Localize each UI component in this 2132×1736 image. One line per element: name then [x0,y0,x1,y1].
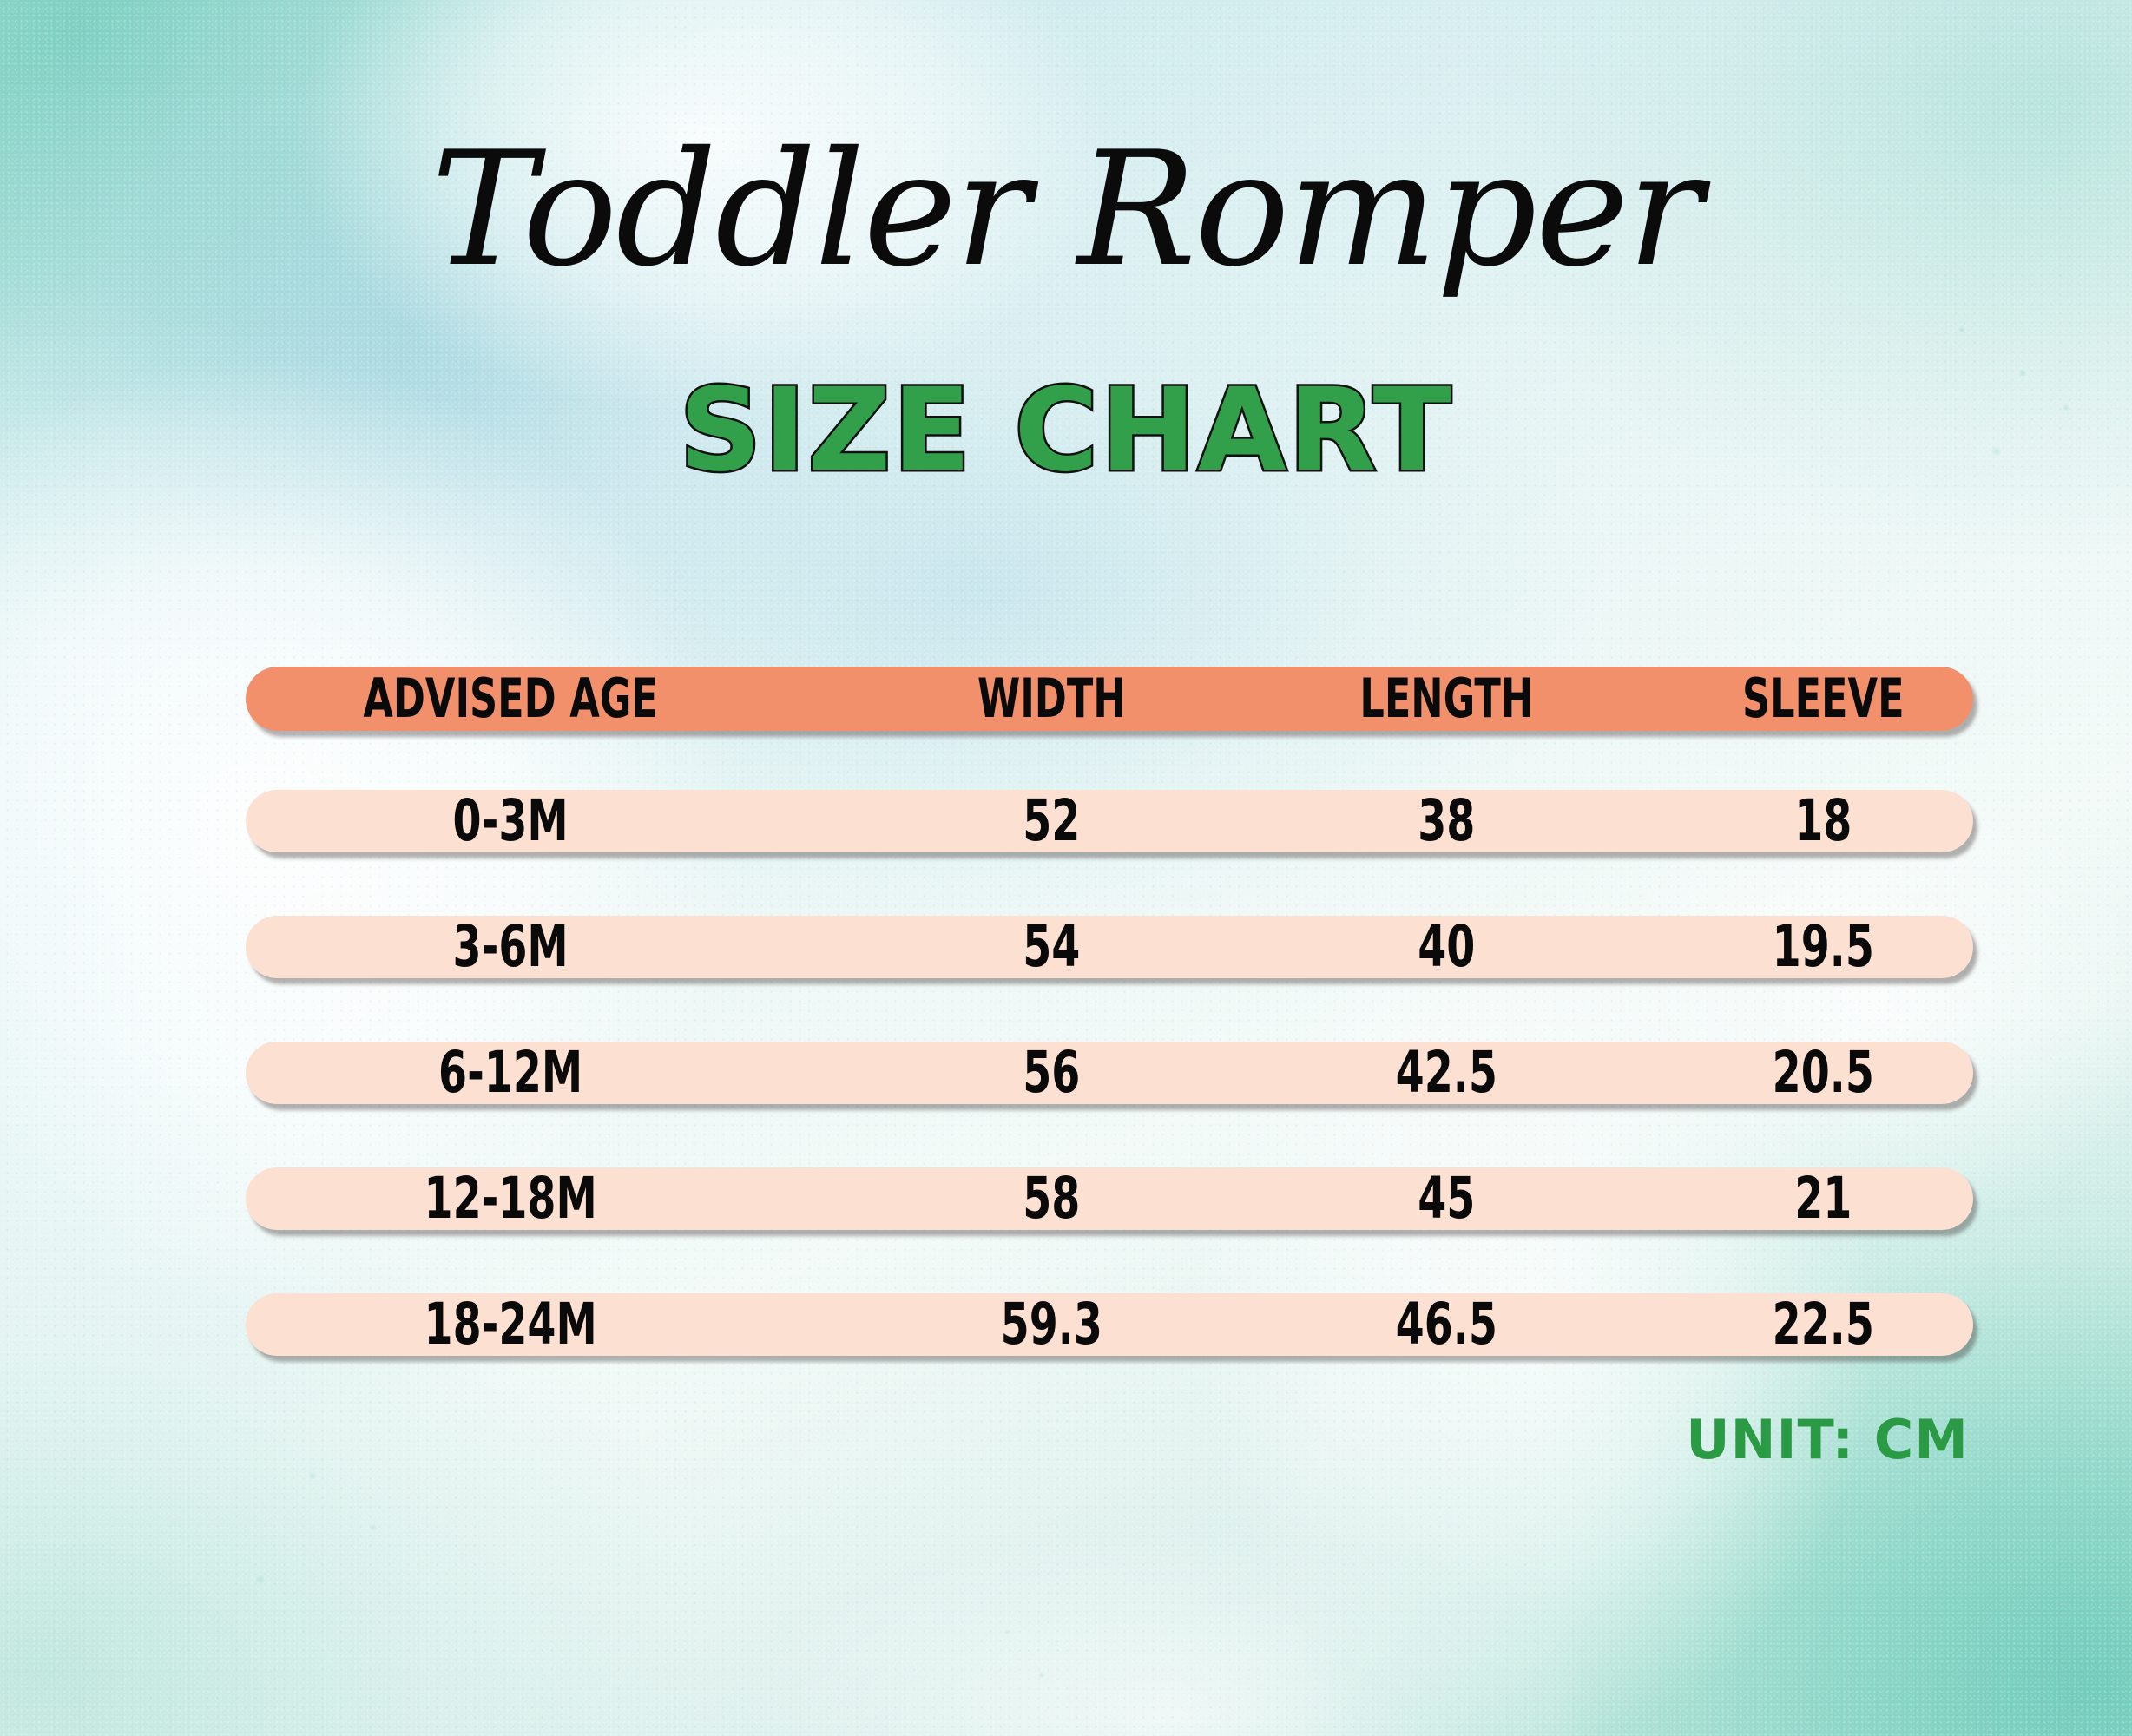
unit-label: UNIT: CM [1686,1413,1969,1467]
cell-sleeve: 18 [1704,790,1944,852]
table-row: 18-24M 59.3 46.5 22.5 [246,1293,1973,1356]
size-chart-poster: Toddler Romper SIZE CHART ADVISED AGE WI… [0,0,2132,1736]
table-row: 0-3M 52 38 18 [246,790,1973,852]
table-row: 12-18M 58 45 21 [246,1167,1973,1230]
cell-sleeve: 22.5 [1704,1293,1944,1356]
size-chart-heading: SIZE CHART [0,373,2132,488]
cell-length: 45 [1326,1167,1566,1230]
table-row: 3-6M 54 40 19.5 [246,916,1973,978]
cell-sleeve: 20.5 [1704,1042,1944,1104]
cell-width: 58 [932,1167,1172,1230]
table-header-row: ADVISED AGE WIDTH LENGTH SLEEVE [246,667,1973,731]
cell-advised-age: 12-18M [315,1167,706,1230]
cell-advised-age: 6-12M [315,1042,706,1104]
cell-sleeve: 21 [1704,1167,1944,1230]
page-title: Toddler Romper [0,130,2132,288]
cell-advised-age: 3-6M [315,916,706,978]
cell-length: 42.5 [1326,1042,1566,1104]
cell-advised-age: 18-24M [315,1293,706,1356]
cell-width: 59.3 [932,1293,1172,1356]
size-chart-table: ADVISED AGE WIDTH LENGTH SLEEVE 0-3M 52 … [246,667,1973,1356]
cell-advised-age: 0-3M [315,790,706,852]
cell-width: 56 [932,1042,1172,1104]
cell-length: 40 [1326,916,1566,978]
cell-sleeve: 19.5 [1704,916,1944,978]
column-header-advised-age: ADVISED AGE [315,667,706,731]
column-header-sleeve: SLEEVE [1704,667,1944,731]
cell-width: 52 [932,790,1172,852]
cell-length: 38 [1326,790,1566,852]
column-header-length: LENGTH [1326,667,1566,731]
cell-length: 46.5 [1326,1293,1566,1356]
table-row: 6-12M 56 42.5 20.5 [246,1042,1973,1104]
poster-content: Toddler Romper SIZE CHART ADVISED AGE WI… [0,0,2132,1736]
cell-width: 54 [932,916,1172,978]
column-header-width: WIDTH [932,667,1172,731]
